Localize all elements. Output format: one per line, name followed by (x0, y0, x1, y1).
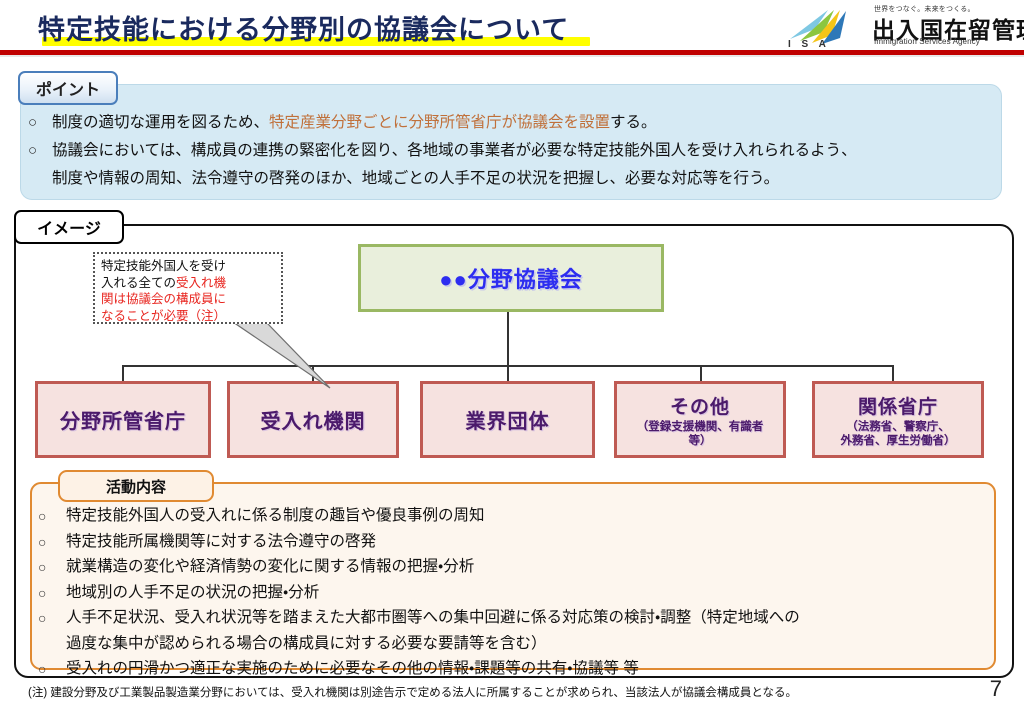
bullet-icon: ○ (38, 530, 66, 555)
council-node-label: ●●分野協議会 (439, 262, 583, 294)
point-item: ○ 制度の適切な運用を図るため、特定産業分野ごとに分野所管省庁が協議会を設置する… (28, 110, 998, 135)
list-item: ○ 特定技能所属機関等に対する法令遵守の啓発 (38, 530, 988, 555)
bullet-icon: ○ (38, 606, 66, 631)
image-tab: イメージ (14, 210, 124, 244)
point-seg-plain: 制度の適切な運用を図るため、 (52, 114, 269, 131)
activity-item-text: 特定技能外国人の受入れに係る制度の趣旨や優良事例の周知 (66, 504, 485, 529)
header-gray-rule (0, 55, 1024, 57)
list-item: ○ 就業構造の変化や経済情勢の変化に関する情報の把握・分析 (38, 555, 988, 580)
callout-line-1: 特定技能外国人を受け (101, 258, 275, 275)
activity-item-text: 地域別の人手不足の状況の把握・分析 (66, 581, 319, 606)
list-item-continuation: 過度な集中が認められる場合の構成員に対する必要な要請等を含む） (38, 632, 988, 657)
org-node-label: 受入れ機関 (261, 405, 366, 434)
callout-line-2-black: 入れる全ての (101, 276, 176, 290)
agency-name-en: Immigration Services Agency (874, 37, 980, 46)
callout-pointer-icon (230, 320, 360, 395)
callout-line-3: 関は協議会の構成員に (101, 291, 275, 308)
activity-tab: 活動内容 (58, 470, 214, 502)
point-item-text: 制度の適切な運用を図るため、特定産業分野ごとに分野所管省庁が協議会を設置する。 (52, 110, 657, 135)
list-item: ○ 受入れの円滑かつ適正な実施のために必要なその他の情報・課題等の共有・協議等 … (38, 657, 988, 682)
org-node-label: 業界団体 (466, 405, 550, 434)
org-node-others: その他 （登録支援機関、有識者 等） (614, 381, 786, 458)
org-node-sublabel: （登録支援機関、有識者 等） (637, 420, 764, 448)
image-tab-label: イメージ (37, 215, 101, 239)
agency-logo: I S A 世界をつなぐ。未来をつくる。 出入国在留管理庁 Immigratio… (782, 3, 1010, 49)
point-item: ○ 協議会においては、構成員の連携の緊密化を図り、各地域の事業者が必要な特定技能… (28, 138, 998, 163)
list-item: ○ 人手不足状況、受入れ状況等を踏まえた大都市圏等への集中回避に係る対応策の検討… (38, 606, 988, 631)
bullet-icon: ○ (28, 138, 52, 163)
bullet-icon: ○ (38, 657, 66, 682)
page-title: 特定技能における分野別の協議会について (38, 8, 569, 47)
callout-line-2-red: 受入れ機 (176, 276, 226, 290)
council-node: ●●分野協議会 (358, 244, 664, 312)
org-node-label: 関係省庁 (858, 392, 938, 419)
activity-list: ○ 特定技能外国人の受入れに係る制度の趣旨や優良事例の周知 ○ 特定技能所属機関… (38, 504, 988, 683)
connector-drop-4 (700, 365, 702, 382)
isa-label: I S A (788, 39, 830, 50)
list-item: ○ 特定技能外国人の受入れに係る制度の趣旨や優良事例の周知 (38, 504, 988, 529)
point-item-text: 制度や情報の周知、法令遵守の啓発のほか、地域ごとの人手不足の状況を把握し、必要な… (52, 166, 779, 191)
bullet-icon: ○ (38, 581, 66, 606)
point-item-continuation: 制度や情報の周知、法令遵守の啓発のほか、地域ごとの人手不足の状況を把握し、必要な… (28, 166, 998, 191)
activity-item-text: 人手不足状況、受入れ状況等を踏まえた大都市圏等への集中回避に係る対応策の検討・調… (66, 606, 800, 631)
activity-item-text: 就業構造の変化や経済情勢の変化に関する情報の把握・分析 (66, 555, 474, 580)
council-label-text: 分野協議会 (468, 267, 583, 292)
point-item-text: 協議会においては、構成員の連携の緊密化を図り、各地域の事業者が必要な特定技能外国… (52, 138, 857, 163)
point-seg-tail: する。 (610, 114, 657, 131)
callout-line-2: 入れる全ての受入れ機 (101, 275, 275, 292)
callout-line-4: なることが必要（注） (101, 308, 275, 325)
bullet-icon: ○ (28, 110, 52, 135)
slide-root: 特定技能における分野別の協議会について I S A 世界をつなぐ。未来をつくる。… (0, 0, 1024, 714)
slide-header: 特定技能における分野別の協議会について I S A 世界をつなぐ。未来をつくる。… (0, 0, 1024, 58)
callout-note: 特定技能外国人を受け 入れる全ての受入れ機 関は協議会の構成員に なることが必要… (93, 252, 283, 324)
org-node-related-ministries: 関係省庁 （法務省、警察庁、 外務省、厚生労働省） (812, 381, 984, 458)
connector-vertical-main (507, 306, 509, 366)
org-node-label: その他 (670, 392, 730, 419)
activity-item-text: 受入れの円滑かつ適正な実施のために必要なその他の情報・課題等の共有・協議等 等 (66, 657, 639, 682)
org-node-sublabel: （法務省、警察庁、 外務省、厚生労働省） (841, 420, 956, 448)
org-node-label: 分野所管省庁 (60, 405, 186, 434)
council-dots: ●● (439, 267, 468, 292)
activity-tab-label: 活動内容 (106, 476, 166, 497)
bullet-icon: ○ (38, 555, 66, 580)
bullet-icon: ○ (38, 504, 66, 529)
point-seg-emphasis: 特定産業分野ごとに分野所管省庁が協議会を設置 (269, 114, 610, 131)
connector-drop-5 (892, 365, 894, 382)
activity-item-text: 過度な集中が認められる場合の構成員に対する必要な要請等を含む） (66, 632, 547, 657)
list-item: ○ 地域別の人手不足の状況の把握・分析 (38, 581, 988, 606)
org-node-industry-group: 業界団体 (420, 381, 595, 458)
activity-item-text: 特定技能所属機関等に対する法令遵守の啓発 (66, 530, 376, 555)
page-number: 7 (990, 676, 1002, 702)
point-list: ○ 制度の適切な運用を図るため、特定産業分野ごとに分野所管省庁が協議会を設置する… (28, 110, 998, 194)
connector-drop-1 (122, 365, 124, 382)
org-node-ministry: 分野所管省庁 (35, 381, 211, 458)
footnote: (注) 建設分野及び工業製品製造業分野においては、受入れ機関は別途告示で定める法… (28, 684, 797, 700)
connector-drop-3 (507, 365, 509, 382)
point-tab: ポイント (18, 71, 118, 105)
point-tab-label: ポイント (36, 76, 100, 100)
